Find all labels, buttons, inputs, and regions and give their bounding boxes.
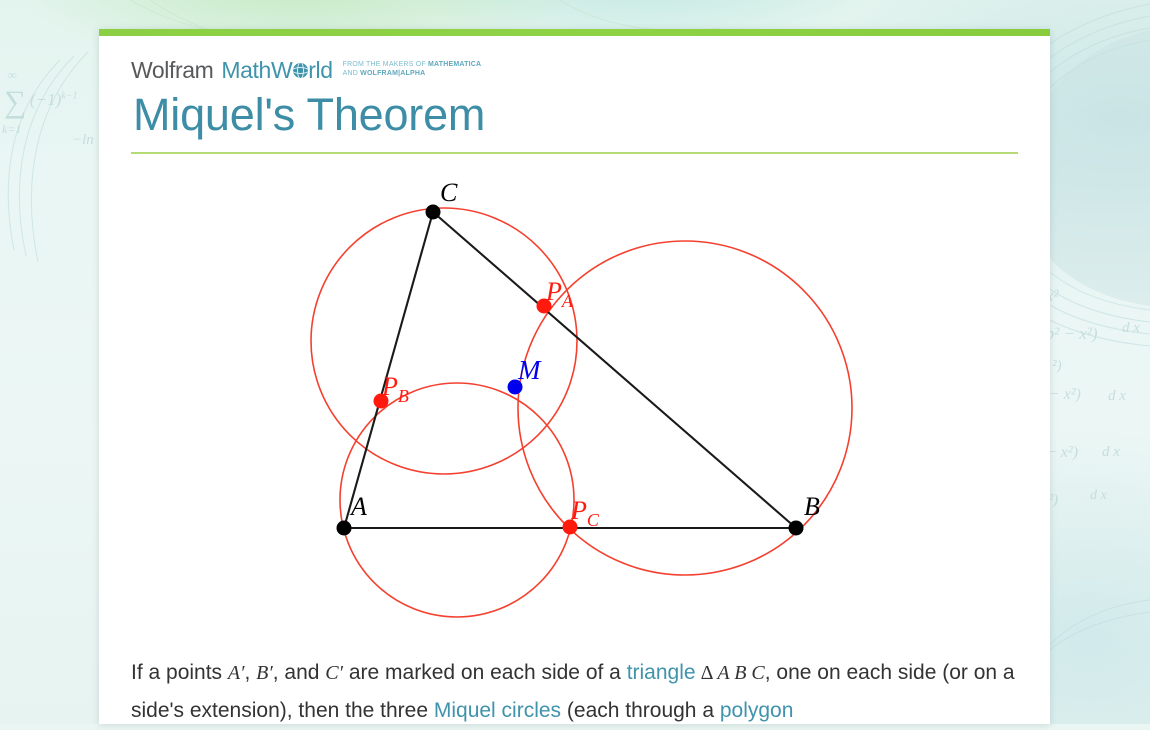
- tagline-line-1-bold: MATHEMATICA: [428, 61, 481, 68]
- logo-wolfram-text: Wolfram: [131, 57, 213, 84]
- title-divider: [131, 152, 1018, 154]
- miquel-label-PB: PB: [381, 372, 409, 406]
- tagline-line-2: AND WOLFRAM|ALPHA: [343, 70, 482, 79]
- body-text-run: ,: [244, 661, 256, 684]
- figure-container: A B C PA PB PC M: [131, 168, 1018, 638]
- miquel-points-group: [374, 298, 578, 534]
- side-BC: [433, 212, 796, 528]
- miquel-circle-c: [311, 208, 577, 474]
- vertex-point-A: [337, 520, 352, 535]
- inline-link[interactable]: triangle: [627, 661, 696, 684]
- body-text-run: (each through a: [561, 699, 720, 722]
- inline-math: A′: [228, 662, 245, 684]
- vertex-point-B: [789, 520, 804, 535]
- vertex-label-A: A: [349, 492, 367, 521]
- vertex-label-C: C: [440, 178, 458, 207]
- inline-link[interactable]: Miquel circles: [434, 699, 561, 722]
- page-title: Miquel's Theorem: [133, 89, 1018, 141]
- inline-math: B′: [256, 662, 273, 684]
- miquel-label-M: M: [517, 355, 542, 385]
- inline-link[interactable]: polygon: [720, 699, 794, 722]
- inline-math: C′: [325, 662, 343, 684]
- body-text-run: , and: [273, 661, 326, 684]
- content-card: Wolfram MathWrld FROM THE MAKERS OF MATH…: [99, 29, 1050, 724]
- miquel-label-PC: PC: [570, 496, 600, 530]
- tagline-line-2-bold: WOLFRAM|ALPHA: [360, 70, 425, 77]
- body-text-run: If a points: [131, 661, 228, 684]
- miquel-circles-group: [311, 208, 852, 617]
- tagline-line-1: FROM THE MAKERS OF MATHEMATICA: [343, 61, 482, 70]
- body-text-run: are marked on each side of a: [343, 661, 627, 684]
- miquel-theorem-diagram: A B C PA PB PC M: [131, 168, 1018, 638]
- globe-icon: [293, 63, 308, 78]
- tagline-line-1-light: FROM THE MAKERS OF: [343, 61, 428, 68]
- inline-math: Δ: [696, 662, 718, 684]
- logo-mathworld-suffix: rld: [308, 57, 332, 84]
- miquel-label-PA: PA: [545, 277, 574, 311]
- triangle-sides-group: [344, 212, 796, 528]
- tagline-line-2-light: AND: [343, 70, 361, 77]
- logo-tagline: FROM THE MAKERS OF MATHEMATICA AND WOLFR…: [343, 61, 482, 78]
- vertex-label-B: B: [804, 492, 820, 521]
- wolfram-mathworld-logo[interactable]: Wolfram MathWrld FROM THE MAKERS OF MATH…: [131, 57, 1018, 83]
- vertex-point-C: [426, 204, 441, 219]
- theorem-statement-paragraph: If a points A′, B′, and C′ are marked on…: [131, 654, 1018, 730]
- logo-mathworld-text: MathWrld: [221, 57, 332, 84]
- triangle-vertices-group: [337, 204, 804, 535]
- logo-mathworld-prefix: MathW: [221, 57, 292, 84]
- side-CA: [344, 212, 433, 528]
- inline-math: A B C: [717, 662, 764, 684]
- card-top-accent-bar: [99, 29, 1050, 36]
- vertex-labels-group: A B C: [349, 178, 820, 521]
- miquel-point-labels-group: PA PB PC: [381, 277, 600, 530]
